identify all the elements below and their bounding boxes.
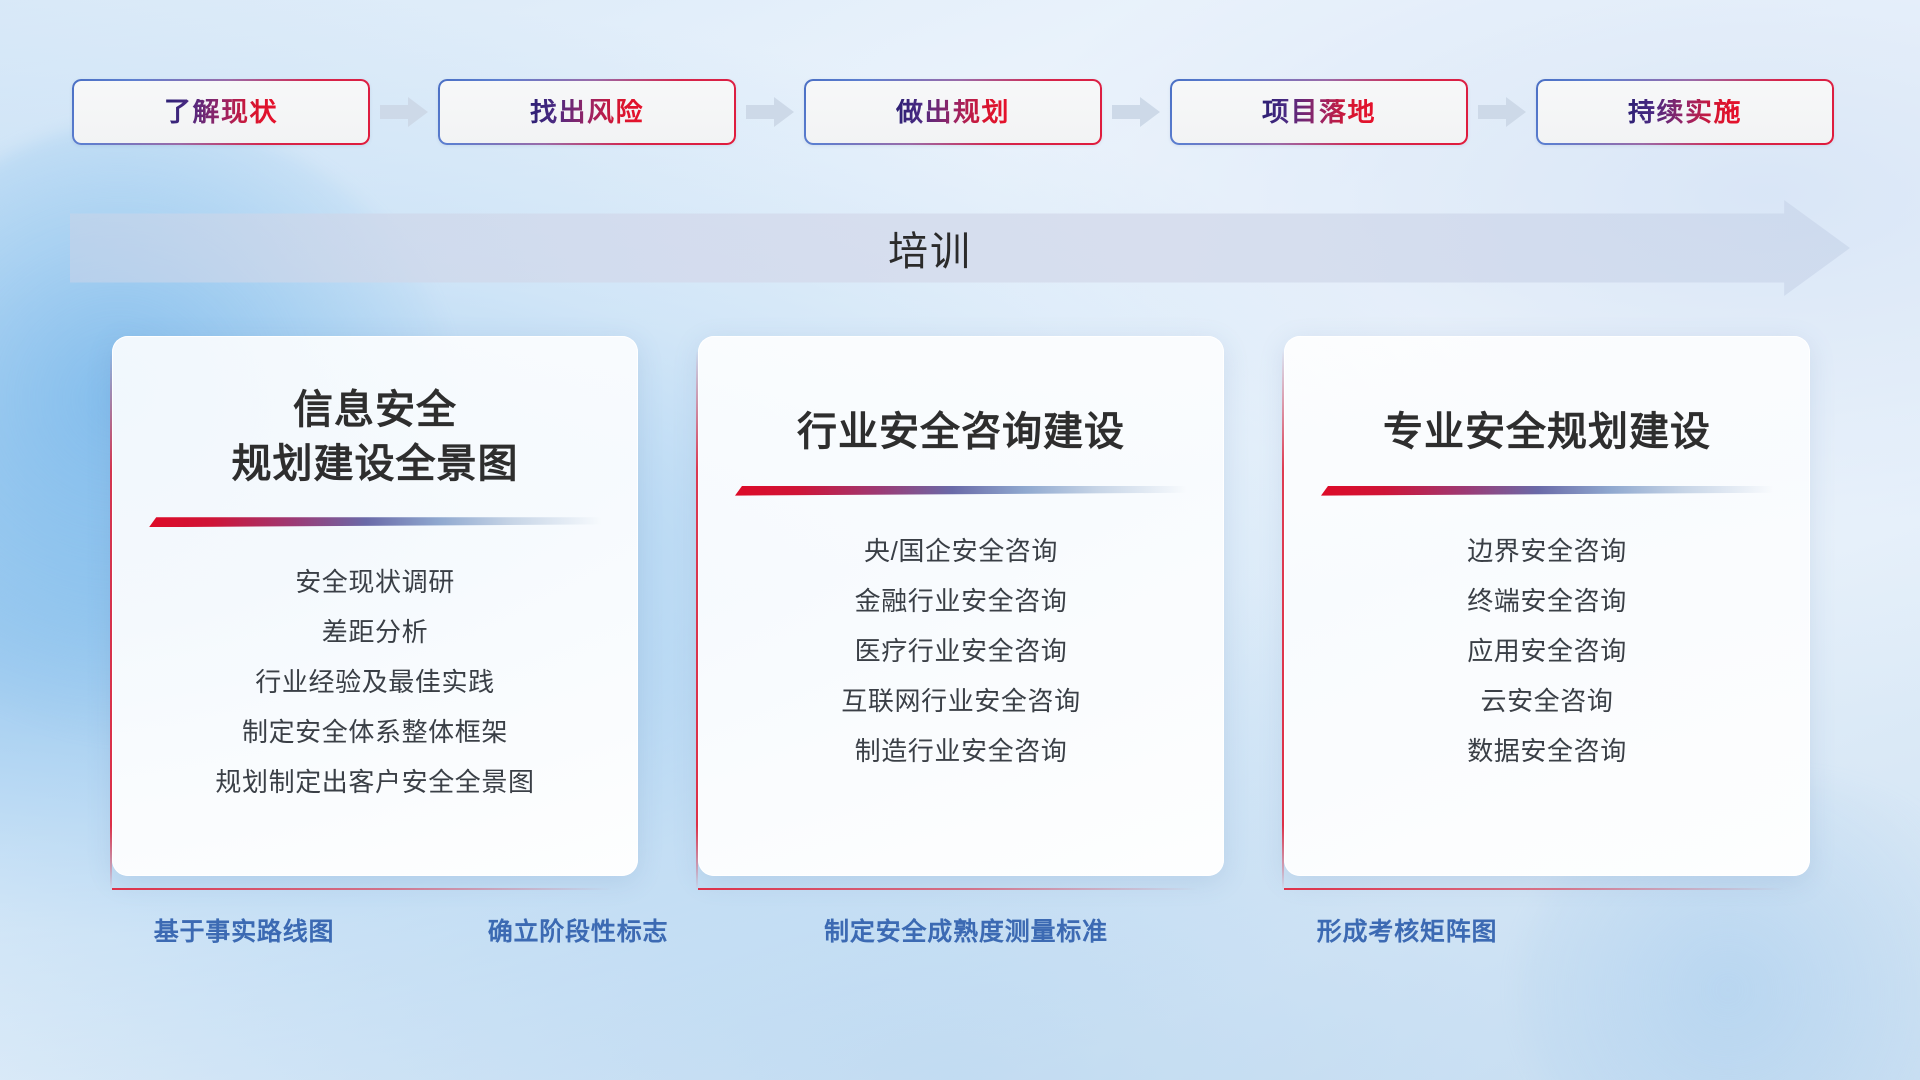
card-2-title: 行业安全咨询建设 (797, 406, 1125, 460)
card-3[interactable]: 专业安全规划建设 边界安全咨询 终端安全咨询 应用安全咨询 云安全咨询 数据安全… (1284, 336, 1810, 876)
list-item: 央/国企安全咨询 (864, 526, 1058, 576)
list-item: 边界安全咨询 (1467, 526, 1627, 576)
list-item: 医疗行业安全咨询 (855, 626, 1068, 676)
slide-canvas: 了解现状 找出风险 做出规划 项目落地 (0, 0, 1920, 1080)
banner-label: 培训 (70, 200, 1850, 296)
card-3-list: 边界安全咨询 终端安全咨询 应用安全咨询 云安全咨询 数据安全咨询 (1284, 526, 1810, 776)
card-1[interactable]: 信息安全 规划建设全景图 安全现状调研 差距分析 行业经验及最佳实践 制定安全体… (112, 336, 638, 876)
card-3-title: 专业安全规划建设 (1383, 406, 1711, 460)
list-item: 金融行业安全咨询 (855, 576, 1068, 626)
step-label-2: 找出风险 (530, 99, 644, 126)
step-arrow-icon-2 (736, 92, 804, 132)
list-item: 制定安全体系整体框架 (242, 707, 508, 757)
card-2-divider-icon (735, 486, 1187, 496)
step-label-4: 项目落地 (1262, 99, 1376, 126)
step-box-2[interactable]: 找出风险 (438, 79, 736, 145)
card-2-bottom-accent (698, 888, 1198, 890)
list-item: 数据安全咨询 (1467, 726, 1627, 776)
footer-label-1: 基于事实路线图 (154, 912, 335, 948)
list-item: 安全现状调研 (295, 557, 455, 607)
list-item: 云安全咨询 (1480, 676, 1613, 726)
card-3-bottom-accent (1284, 888, 1784, 890)
list-item: 应用安全咨询 (1467, 626, 1627, 676)
list-item: 互联网行业安全咨询 (841, 676, 1080, 726)
list-item: 终端安全咨询 (1467, 576, 1627, 626)
footer-label-3: 制定安全成熟度测量标准 (824, 912, 1108, 948)
card-1-divider-icon (149, 517, 601, 527)
step-arrow-icon-3 (1102, 92, 1170, 132)
step-arrow-icon-4 (1468, 92, 1536, 132)
step-box-1[interactable]: 了解现状 (72, 79, 370, 145)
step-box-4[interactable]: 项目落地 (1170, 79, 1468, 145)
step-arrow-icon-1 (370, 92, 438, 132)
process-step-flow: 了解现状 找出风险 做出规划 项目落地 (72, 78, 1848, 146)
list-item: 行业经验及最佳实践 (255, 657, 494, 707)
step-label-5: 持续实施 (1628, 99, 1742, 126)
card-2[interactable]: 行业安全咨询建设 央/国企安全咨询 金融行业安全咨询 医疗行业安全咨询 互联网行… (698, 336, 1224, 876)
card-1-title: 信息安全 规划建设全景图 (232, 384, 519, 491)
card-3-left-accent (1282, 350, 1284, 890)
card-2-left-accent (696, 350, 698, 890)
step-box-5[interactable]: 持续实施 (1536, 79, 1834, 145)
footer-label-row: 基于事实路线图 确立阶段性标志 制定安全成熟度测量标准 形成考核矩阵图 (0, 912, 1920, 956)
card-1-list: 安全现状调研 差距分析 行业经验及最佳实践 制定安全体系整体框架 规划制定出客户… (112, 557, 638, 807)
step-label-1: 了解现状 (164, 99, 278, 126)
card-3-divider-icon (1321, 486, 1773, 496)
training-banner: 培训 (70, 200, 1850, 296)
footer-label-2: 确立阶段性标志 (488, 912, 669, 948)
card-1-bottom-accent (112, 888, 612, 890)
list-item: 差距分析 (322, 607, 428, 657)
list-item: 规划制定出客户安全全景图 (215, 757, 534, 807)
card-2-list: 央/国企安全咨询 金融行业安全咨询 医疗行业安全咨询 互联网行业安全咨询 制造行… (698, 526, 1224, 776)
list-item: 制造行业安全咨询 (855, 726, 1068, 776)
step-box-3[interactable]: 做出规划 (804, 79, 1102, 145)
step-label-3: 做出规划 (896, 99, 1010, 126)
card-1-left-accent (110, 350, 112, 890)
card-group: 信息安全 规划建设全景图 安全现状调研 差距分析 行业经验及最佳实践 制定安全体… (112, 336, 1812, 876)
footer-label-4: 形成考核矩阵图 (1317, 912, 1498, 948)
